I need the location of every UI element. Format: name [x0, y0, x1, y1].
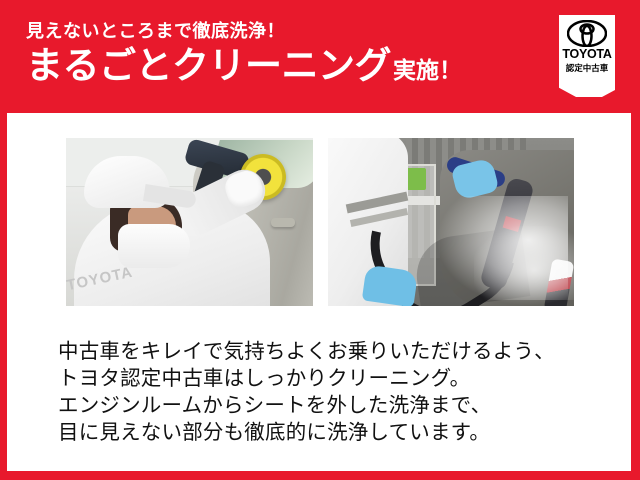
- car-door-handle-shape: [271, 218, 295, 227]
- body-copy-line: 中古車をキレイで気持ちよくお乗りいただけるよう、: [58, 338, 598, 365]
- body-copy-line: エンジンルームからシートを外した洗浄まで、: [58, 392, 598, 419]
- toyota-certified-used-car-logo: TOYOTA 認定中古車: [557, 13, 617, 99]
- body-copy-line: 目に見えない部分も徹底的に洗浄しています。: [58, 419, 598, 446]
- steam-cloud-2-shape: [474, 226, 574, 300]
- worker-face-mask-shape: [118, 224, 190, 268]
- photo-row: TOYOTA: [66, 138, 574, 306]
- body-copy: 中古車をキレイで気持ちよくお乗りいただけるよう、 トヨタ認定中古車はしっかりクリ…: [58, 338, 598, 446]
- body-copy-line: トヨタ認定中古車はしっかりクリーニング。: [58, 365, 598, 392]
- photo-polishing: TOYOTA: [66, 138, 313, 306]
- header-text-block: 見えないところまで徹底洗浄！ まるごとクリーニング 実施！: [26, 22, 526, 86]
- header-band: 見えないところまで徹底洗浄！ まるごとクリーニング 実施！ TOYOTA 認定中…: [0, 0, 640, 113]
- toyota-wordmark: TOYOTA: [559, 48, 615, 61]
- header-headline-row: まるごとクリーニング 実施！: [26, 47, 526, 86]
- photo-steam-cleaning: [328, 138, 575, 306]
- toyota-emblem-icon: [567, 20, 607, 47]
- certified-used-car-label: 認定中古車: [559, 64, 615, 73]
- banner-border-bottom: [0, 471, 640, 480]
- header-kicker: 見えないところまで徹底洗浄！: [26, 22, 526, 41]
- header-headline-suffix: 実施！: [393, 58, 462, 82]
- cleaning-promo-banner: 見えないところまで徹底洗浄！ まるごとクリーニング 実施！ TOYOTA 認定中…: [0, 0, 640, 480]
- logo-plate-inner: TOYOTA 認定中古車: [559, 20, 615, 99]
- header-headline: まるごとクリーニング: [26, 47, 391, 86]
- logo-chevron-shape: [557, 80, 617, 99]
